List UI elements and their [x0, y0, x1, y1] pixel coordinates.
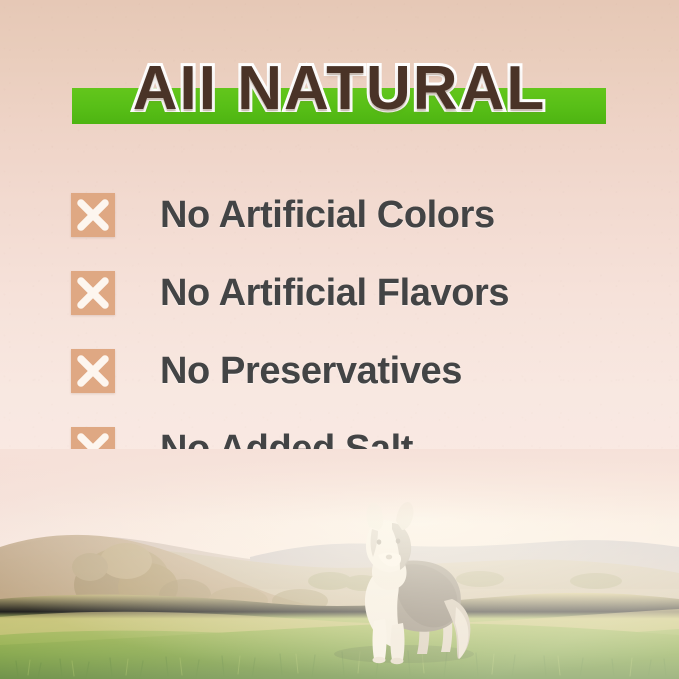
headline-text: AII NATURAL: [0, 52, 679, 126]
claims-list: No Artificial Colors No Artificial Flavo…: [71, 176, 631, 488]
claim-item: No Artificial Colors: [71, 176, 631, 254]
claim-label: No Preservatives: [160, 350, 462, 393]
all-natural-product-graphic: AII NATURAL No Artificial Colors: [0, 0, 679, 679]
x-mark-icon: [71, 193, 115, 237]
claim-item: No Preservatives: [71, 332, 631, 410]
landscape-photo: [0, 449, 679, 679]
claim-label: No Artificial Colors: [160, 194, 495, 237]
x-mark-icon: [71, 271, 115, 315]
x-mark-icon: [71, 349, 115, 393]
headline-banner: AII NATURAL: [0, 52, 679, 136]
claim-item: No Artificial Flavors: [71, 254, 631, 332]
claim-label: No Artificial Flavors: [160, 272, 509, 315]
